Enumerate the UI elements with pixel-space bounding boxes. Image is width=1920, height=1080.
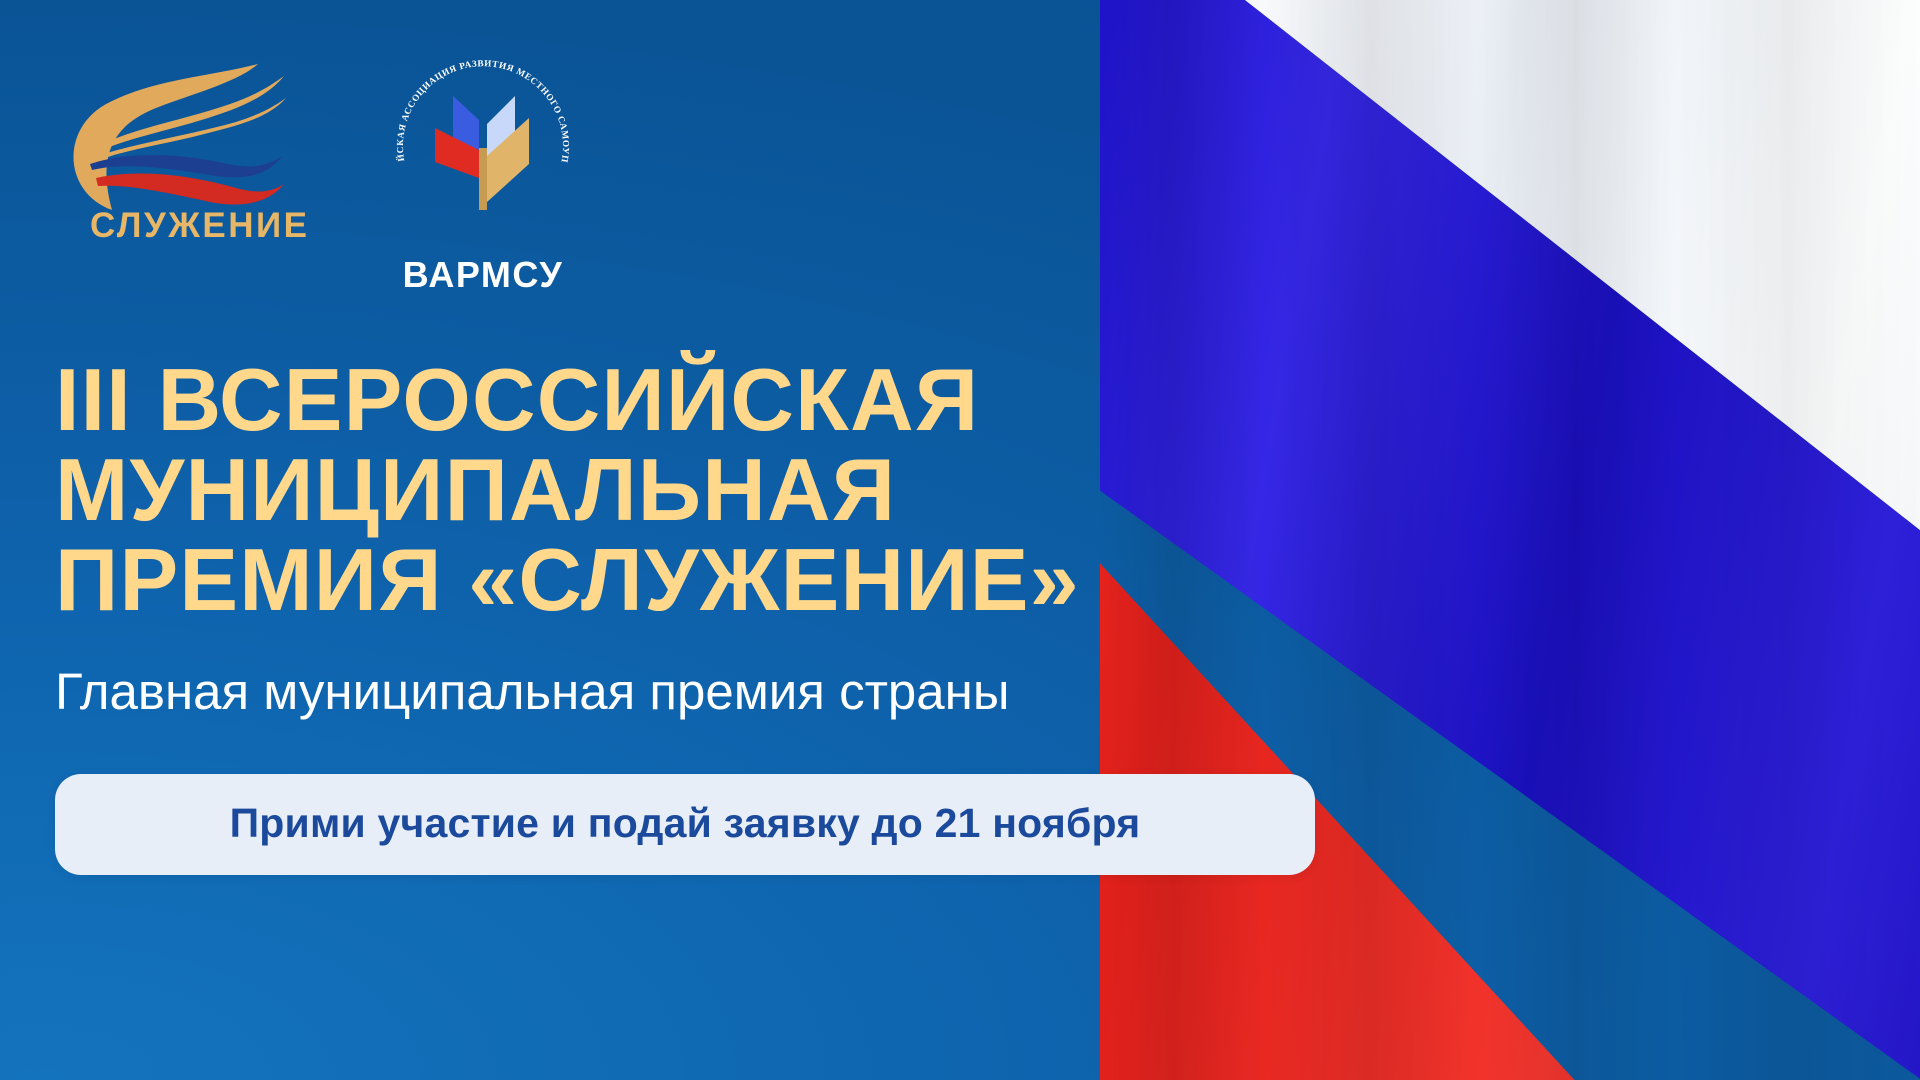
hero-content: III ВСЕРОССИЙСКАЯ МУНИЦИПАЛЬНАЯ ПРЕМИЯ «… [55, 355, 1175, 875]
flag-fold-shading [1100, 0, 1920, 1080]
varmsu-wordmark: ВАРМСУ [378, 254, 588, 296]
flag-band-blue [1100, 0, 1920, 1080]
russian-flag-graphic [1100, 0, 1920, 1080]
promo-poster: СЛУЖЕНИЕ ВСЕРОССИЙСКАЯ АССОЦИАЦИЯ РАЗВИТ… [0, 0, 1920, 1080]
hero-subtitle: Главная муниципальная премия страны [55, 664, 1175, 720]
flag-band-white [1100, 0, 1920, 1080]
apply-cta-label: Прими участие и подай заявку до 21 ноябр… [230, 800, 1141, 847]
page-title: III ВСЕРОССИЙСКАЯ МУНИЦИПАЛЬНАЯ ПРЕМИЯ «… [55, 355, 1175, 624]
varmsu-logo[interactable]: ВСЕРОССИЙСКАЯ АССОЦИАЦИЯ РАЗВИТИЯ МЕСТНО… [378, 52, 588, 296]
logo-row: СЛУЖЕНИЕ ВСЕРОССИЙСКАЯ АССОЦИАЦИЯ РАЗВИТ… [52, 52, 588, 296]
sluzhenie-wordmark: СЛУЖЕНИЕ [90, 206, 302, 246]
flag-band-red [1100, 0, 1920, 1080]
varmsu-emblem-icon: ВСЕРОССИЙСКАЯ АССОЦИАЦИЯ РАЗВИТИЯ МЕСТНО… [383, 52, 583, 252]
sluzhenie-swoosh-icon [52, 52, 302, 212]
sluzhenie-logo[interactable]: СЛУЖЕНИЕ [52, 52, 302, 246]
flag-edge-blend [1100, 0, 1920, 1080]
apply-cta-button[interactable]: Прими участие и подай заявку до 21 ноябр… [55, 774, 1315, 875]
